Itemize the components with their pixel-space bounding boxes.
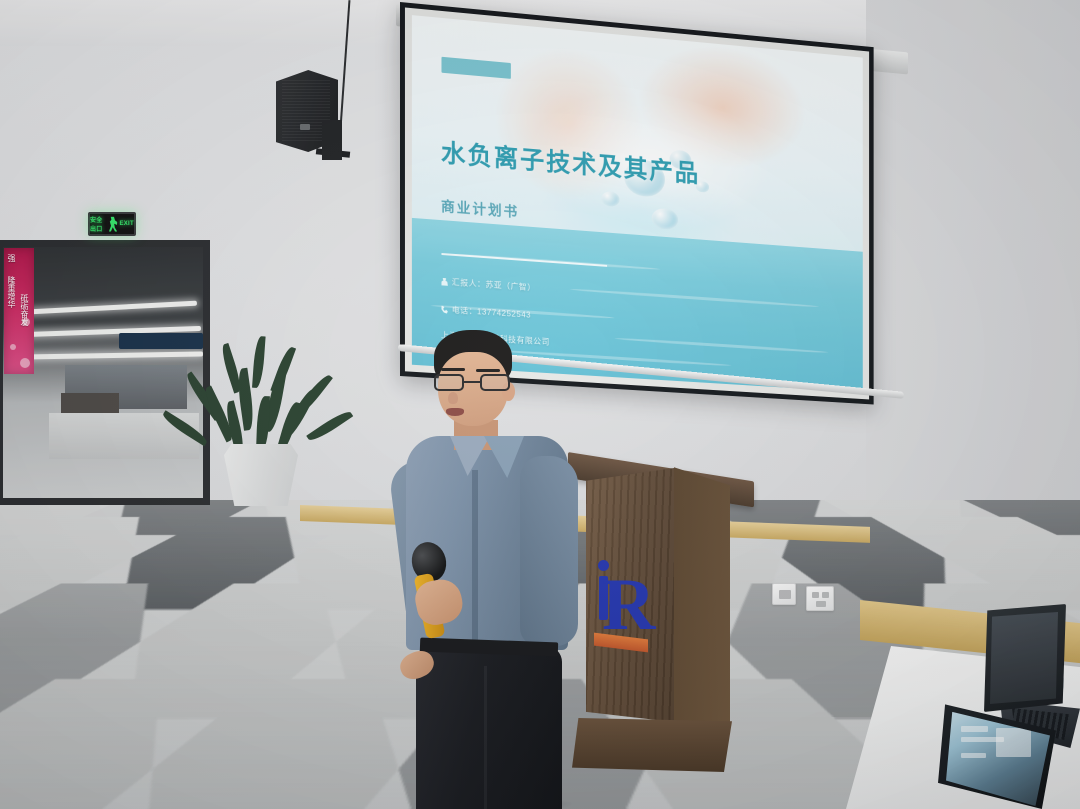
podium-side-panel: [674, 462, 730, 722]
presenter: [398, 330, 588, 809]
photo-scene: 强 隆重增华 砥砺奋发 安全出口 EXIT: [0, 0, 1080, 809]
presenter-mouth: [446, 408, 464, 416]
lens-right: [480, 374, 510, 391]
emergency-exit-sign: 安全出口 EXIT: [88, 212, 136, 236]
eyebrow-right: [476, 369, 500, 372]
podium-base: [572, 718, 732, 772]
vertical-banner: 强 隆重增华 砥砺奋发: [4, 248, 34, 374]
banner-line-2: 隆重增华: [7, 276, 16, 308]
banner-line-1: 强: [7, 254, 16, 262]
exit-sign-right-label: EXIT: [119, 221, 134, 227]
wall-socket-plate: [806, 586, 834, 611]
presenter-nose: [448, 392, 458, 404]
shirt-placket: [472, 470, 478, 646]
eyebrow-left: [441, 368, 465, 371]
speaker-badge: [300, 124, 310, 130]
wall-outlet-plate: [772, 583, 796, 605]
phone-icon: [441, 305, 448, 313]
running-man-icon: [109, 217, 118, 232]
lens-left: [434, 374, 464, 391]
potted-plant: [200, 334, 330, 454]
podium-logo: R: [596, 556, 646, 660]
wayfinding-sign: [119, 333, 203, 349]
presenter-trousers: [416, 646, 562, 809]
speaker-bracket: [322, 120, 342, 160]
exit-sign-left-label: 安全出口: [90, 215, 107, 233]
user-icon: [441, 277, 448, 285]
logo-letter-r: R: [602, 568, 644, 644]
eyeglasses-icon: [434, 374, 512, 391]
presenter-left-arm: [520, 456, 578, 646]
plant-pot: [224, 444, 298, 506]
trouser-crease: [484, 666, 487, 809]
laptop-open-display[interactable]: [990, 612, 1058, 704]
